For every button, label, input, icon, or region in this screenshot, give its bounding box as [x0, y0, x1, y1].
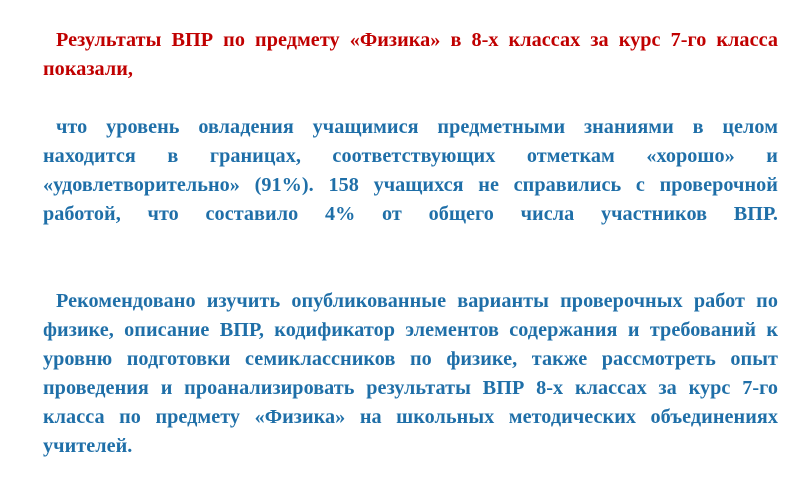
paragraph-findings: что уровень овладения учащимися предметн…	[43, 113, 778, 258]
paragraph-recommendations: Рекомендовано изучить опубликованные вар…	[43, 287, 778, 490]
slide-body-text-block: Результаты ВПР по предмету «Физика» в 8-…	[43, 26, 778, 490]
slide-canvas: Результаты ВПР по предмету «Физика» в 8-…	[0, 0, 800, 450]
paragraph-spacer	[43, 258, 778, 287]
paragraph-intro: Результаты ВПР по предмету «Физика» в 8-…	[43, 26, 778, 113]
